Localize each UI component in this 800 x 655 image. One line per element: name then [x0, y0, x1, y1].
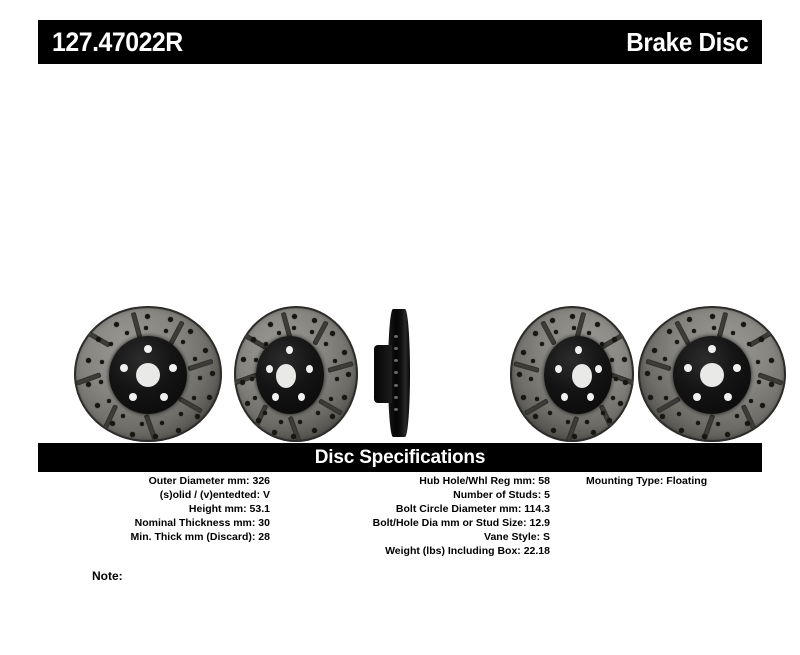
spec-value: 28: [255, 531, 270, 543]
hub-hole: [700, 363, 724, 387]
rotor-hat: [673, 336, 751, 414]
product-type-label: Brake Disc: [626, 29, 748, 55]
product-image-strip: [38, 300, 762, 443]
note-block: Note:: [92, 569, 246, 583]
disc-view-angled-right: [500, 300, 634, 443]
spec-value: 58: [535, 475, 550, 487]
header-bar: 127.47022R Brake Disc: [38, 20, 762, 64]
spec-header-title: Disc Specifications: [315, 448, 485, 467]
spec-label: Min. Thick mm (Discard):: [131, 531, 256, 543]
hub-hole: [572, 364, 592, 388]
rotor-vane-marks: [394, 335, 399, 411]
spec-value: V: [260, 489, 270, 501]
rotor-hat: [256, 336, 324, 414]
rotor-graphic: [638, 306, 786, 442]
disc-view-front-face-left: [74, 300, 222, 443]
spec-label: Weight (lbs) Including Box:: [385, 545, 521, 557]
spec-row: Height mm: 53.1: [38, 502, 278, 516]
spec-label: Vane Style:: [484, 531, 540, 543]
part-number-label: 127.47022R: [52, 29, 183, 56]
disc-view-edge-on: [374, 309, 414, 437]
spec-label: Bolt Circle Diameter mm:: [396, 503, 521, 515]
spec-value: 53.1: [247, 503, 270, 515]
spec-label: (s)olid / (v)entedted:: [160, 489, 260, 501]
spec-row: Bolt Circle Diameter mm: 114.3: [278, 502, 558, 516]
disc-view-front-face-right: [638, 300, 786, 443]
disc-view-angled-left: [234, 300, 368, 443]
spec-row: Outer Diameter mm: 326: [38, 474, 278, 488]
spec-table: Outer Diameter mm: 326(s)olid / (v)ented…: [38, 474, 762, 579]
spec-row: Mounting Type: Floating: [558, 474, 762, 488]
spec-row: (s)olid / (v)entedted: V: [38, 488, 278, 502]
spec-label: Bolt/Hole Dia mm or Stud Size:: [373, 517, 527, 529]
spec-value: Floating: [663, 475, 707, 487]
spec-column-middle: Hub Hole/Whl Reg mm: 58Number of Studs: …: [278, 474, 558, 558]
spec-value: 22.18: [521, 545, 550, 557]
rotor-hat: [109, 336, 187, 414]
spec-row: Nominal Thickness mm: 30: [38, 516, 278, 530]
spec-value: 5: [541, 489, 550, 501]
hub-hole: [276, 364, 296, 388]
spec-label: Outer Diameter mm:: [149, 475, 250, 487]
spec-value: S: [540, 531, 550, 543]
rotor-hat-profile: [374, 345, 392, 403]
spec-label: Hub Hole/Whl Reg mm:: [419, 475, 535, 487]
spec-row: Weight (lbs) Including Box: 22.18: [278, 544, 558, 558]
spec-column-right: Mounting Type: Floating: [558, 474, 762, 488]
spec-row: Hub Hole/Whl Reg mm: 58: [278, 474, 558, 488]
note-label: Note:: [92, 569, 123, 583]
rotor-graphic: [74, 306, 222, 442]
spec-value: 12.9: [527, 517, 550, 529]
spec-value: 114.3: [521, 503, 550, 515]
spec-row: Number of Studs: 5: [278, 488, 558, 502]
spec-label: Nominal Thickness mm:: [135, 517, 256, 529]
hub-hole: [136, 363, 160, 387]
spec-value: 326: [250, 475, 270, 487]
spec-column-left: Outer Diameter mm: 326(s)olid / (v)ented…: [38, 474, 278, 544]
spec-label: Mounting Type:: [586, 475, 663, 487]
spec-label: Number of Studs:: [453, 489, 541, 501]
spec-row: Bolt/Hole Dia mm or Stud Size: 12.9: [278, 516, 558, 530]
rotor-graphic: [510, 306, 634, 442]
spec-label: Height mm:: [189, 503, 247, 515]
spec-row: Vane Style: S: [278, 530, 558, 544]
rotor-hat: [544, 336, 612, 414]
spec-value: 30: [255, 517, 270, 529]
rotor-graphic: [234, 306, 358, 442]
spec-header-bar: Disc Specifications: [38, 443, 762, 472]
spec-row: Min. Thick mm (Discard): 28: [38, 530, 278, 544]
